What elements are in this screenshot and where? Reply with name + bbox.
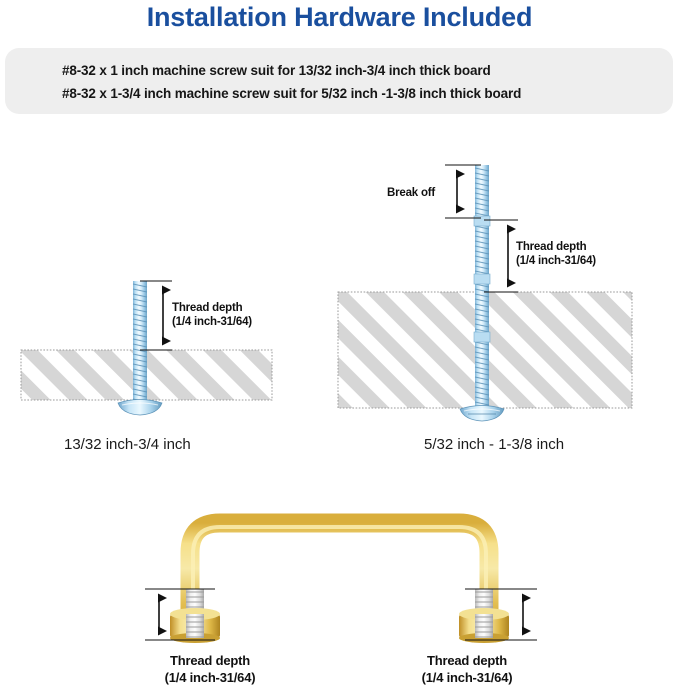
left-board-caption: 13/32 inch-3/4 inch bbox=[64, 436, 191, 453]
page-title: Installation Hardware Included bbox=[0, 2, 679, 33]
handle-left-thread-label: Thread depth (1/4 inch-31/64) bbox=[130, 652, 290, 686]
handle-right-post bbox=[459, 589, 509, 643]
handle-left-thread-dimension bbox=[145, 589, 215, 640]
handle-right-thread-line1: Thread depth bbox=[387, 652, 547, 669]
handle-right-thread-line2: (1/4 inch-31/64) bbox=[387, 669, 547, 686]
handle-right-thread-label: Thread depth (1/4 inch-31/64) bbox=[387, 652, 547, 686]
left-thread-depth-line1: Thread depth bbox=[172, 301, 252, 315]
left-screw bbox=[118, 281, 162, 415]
handle-left-thread-line2: (1/4 inch-31/64) bbox=[130, 669, 290, 686]
handle-left-post bbox=[170, 589, 220, 643]
right-thread-depth-line2: (1/4 inch-31/64) bbox=[516, 254, 596, 268]
hardware-info-panel: #8-32 x 1 inch machine screw suit for 13… bbox=[5, 48, 673, 114]
hardware-info-line-1: #8-32 x 1 inch machine screw suit for 13… bbox=[62, 63, 491, 78]
left-thread-depth-label: Thread depth (1/4 inch-31/64) bbox=[172, 301, 252, 329]
right-thread-depth-label: Thread depth (1/4 inch-31/64) bbox=[516, 240, 596, 268]
break-off-label: Break off bbox=[387, 186, 435, 200]
right-board bbox=[338, 292, 632, 408]
handle-right-thread-dimension bbox=[465, 589, 537, 640]
break-off-dimension bbox=[445, 165, 481, 218]
cabinet-pull-handle bbox=[145, 523, 537, 643]
right-screw-diagram bbox=[338, 165, 632, 421]
handle-left-thread-line1: Thread depth bbox=[130, 652, 290, 669]
left-thread-depth-line2: (1/4 inch-31/64) bbox=[172, 315, 252, 329]
left-board bbox=[21, 350, 272, 400]
right-thread-depth-line1: Thread depth bbox=[516, 240, 596, 254]
right-board-caption: 5/32 inch - 1-3/8 inch bbox=[424, 436, 564, 453]
right-screw bbox=[460, 165, 504, 421]
hardware-info-line-2: #8-32 x 1-3/4 inch machine screw suit fo… bbox=[62, 86, 521, 101]
right-thread-depth-dimension bbox=[484, 220, 518, 292]
left-thread-depth-dimension bbox=[140, 281, 172, 350]
